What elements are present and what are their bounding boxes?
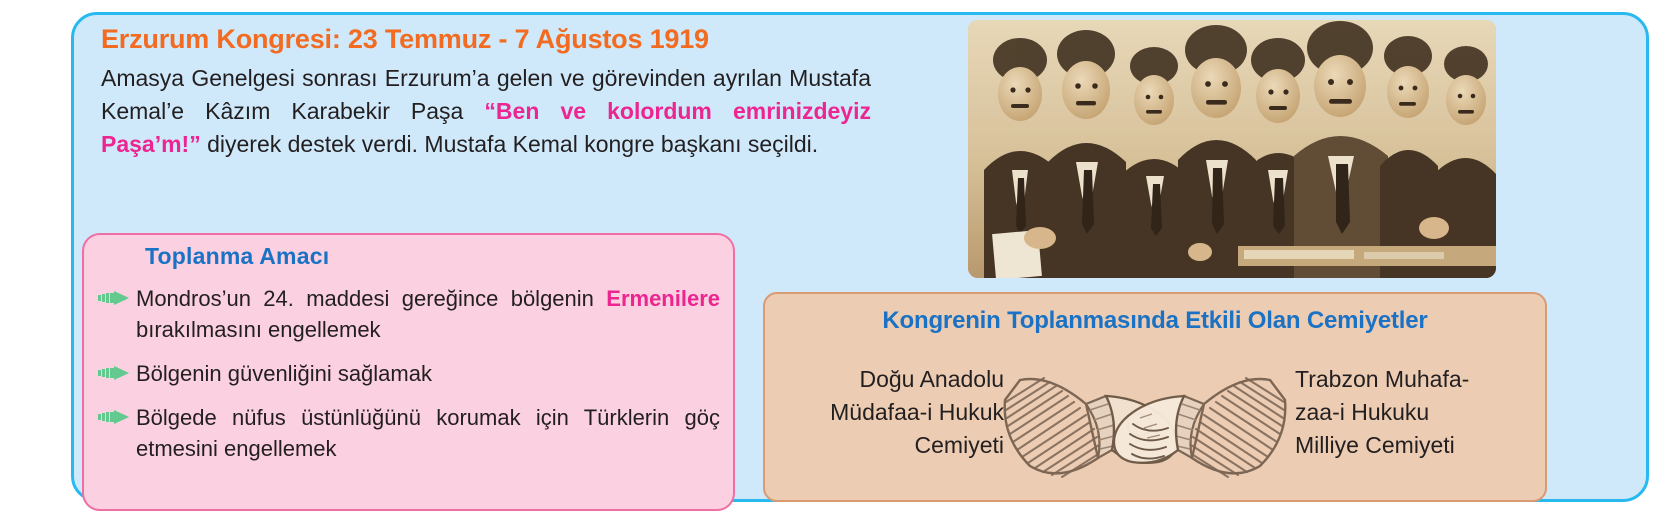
list-item: Mondros’un 24. maddesi gereğince bölgeni… [98, 283, 728, 345]
page-title: Erzurum Kongresi: 23 Temmuz - 7 Ağustos … [101, 24, 709, 55]
list-item: Bölgede nüfus üstünlüğünü korumak için T… [98, 402, 728, 464]
historical-photo [968, 20, 1496, 278]
bullet-1-post: bırakılmasını engellemek [136, 317, 381, 342]
society-right-label: Trabzon Muhafa-zaa-i HukukuMilliye Cemiy… [1295, 363, 1535, 462]
bullet-1-highlight: Ermenilere [606, 286, 720, 311]
bullet-1-pre: Mondros’un 24. maddesi gereğince bölgeni… [136, 286, 606, 311]
societies-box-heading: Kongrenin Toplanmasında Etkili Olan Cemi… [763, 307, 1547, 335]
list-item-text: Bölgenin güvenliğini sağlamak [136, 358, 728, 389]
handshake-icon [1000, 358, 1290, 490]
purpose-bullet-list: Mondros’un 24. maddesi gereğince bölgeni… [98, 283, 728, 477]
purpose-box-heading: Toplanma Amacı [145, 243, 329, 270]
page-root: Erzurum Kongresi: 23 Temmuz - 7 Ağustos … [0, 0, 1662, 522]
green-arrow-icon [98, 402, 136, 430]
society-left-label: Doğu AnadoluMüdafaa-i HukukCemiyeti [790, 363, 1004, 462]
paragraph-part-2: diyerek destek verdi. Mustafa Kemal kong… [201, 131, 818, 157]
list-item-text: Bölgede nüfus üstünlüğünü korumak için T… [136, 402, 728, 464]
congress-description-paragraph: Amasya Genelgesi sonrası Erzurum’a gelen… [101, 62, 871, 161]
list-item: Bölgenin güvenliğini sağlamak [98, 358, 728, 389]
list-item-text: Mondros’un 24. maddesi gereğince bölgeni… [136, 283, 728, 345]
green-arrow-icon [98, 358, 136, 386]
green-arrow-icon [98, 283, 136, 311]
